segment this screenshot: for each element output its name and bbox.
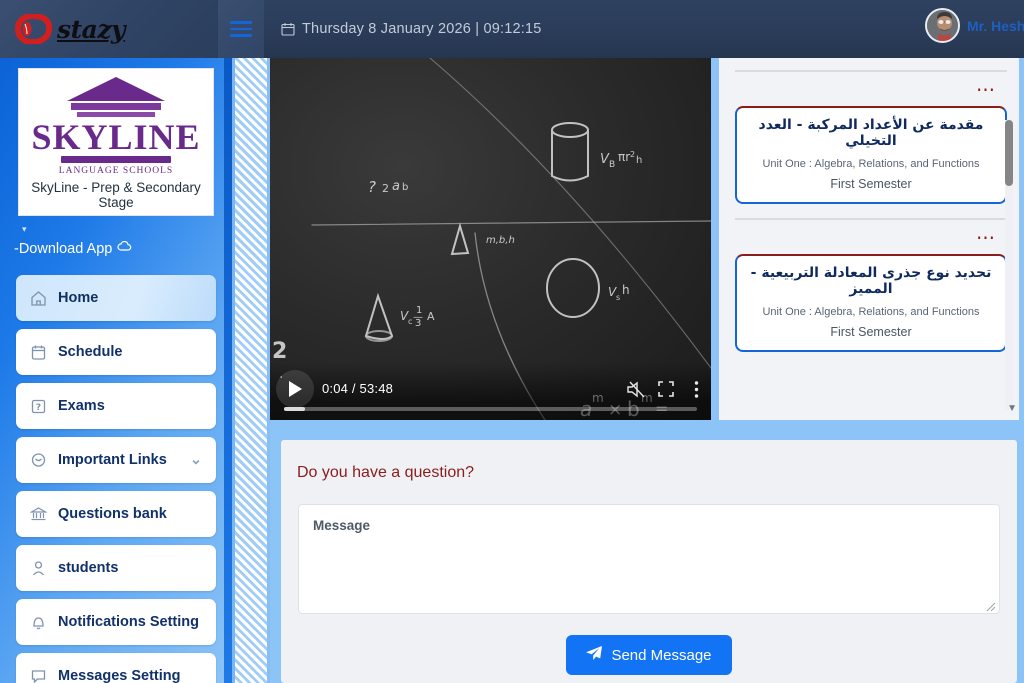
cloud-download-icon <box>117 241 132 257</box>
brand-o-icon <box>14 14 52 44</box>
svg-text:2: 2 <box>382 182 389 195</box>
brand-logo[interactable]: stazy <box>14 14 125 44</box>
chevron-down-icon[interactable]: ▼ <box>1007 403 1017 414</box>
sidebar-item-notifications-setting[interactable]: Notifications Setting <box>16 599 216 645</box>
sidebar-item-exams[interactable]: ? Exams <box>16 383 216 429</box>
exam-icon: ? <box>30 398 47 415</box>
lesson-unit: Unit One : Algebra, Relations, and Funct… <box>745 306 997 318</box>
link-circle-icon <box>30 452 47 469</box>
send-message-label: Send Message <box>611 647 711 664</box>
brand-name: stazy <box>57 15 125 44</box>
message-input[interactable]: Message <box>298 504 1000 614</box>
datetime-text: Thursday 8 January 2026 | 09:12:15 <box>302 21 542 37</box>
sidebar-item-label: Home <box>58 290 202 306</box>
school-stage-caption: SkyLine - Prep & Secondary Stage <box>23 180 209 213</box>
svg-text:h: h <box>622 283 630 297</box>
lesson-list-panel: ⋯ مقدمة عن الأعداد المركبة - العدد التخي… <box>719 58 1019 420</box>
sidebar-item-label: Questions bank <box>58 506 202 522</box>
calendar-icon <box>30 344 47 361</box>
svg-text:?: ? <box>36 403 41 413</box>
svg-text:A: A <box>427 310 435 323</box>
user-icon <box>30 560 47 577</box>
download-app-link[interactable]: -Download App <box>14 241 232 257</box>
message-placeholder: Message <box>313 518 370 533</box>
svg-text:s: s <box>616 293 620 302</box>
sidebar-caret-icon[interactable]: ▾ <box>22 224 232 235</box>
svg-text:B: B <box>609 160 615 170</box>
svg-text:πr: πr <box>618 150 630 164</box>
more-horizontal-icon[interactable]: ⋯ <box>735 72 1007 106</box>
sidebar-menu: Home Schedule ? Exams <box>0 275 232 683</box>
message-icon <box>30 668 47 683</box>
sidebar-item-messages-setting[interactable]: Messages Setting <box>16 653 216 683</box>
app-root: ⋯ مقدمة عن الأعداد المركبة - العدد التخي… <box>0 0 1024 683</box>
send-message-button[interactable]: Send Message <box>566 635 731 675</box>
chevron-down-icon[interactable]: ⌄ <box>190 452 202 468</box>
school-logo-icon <box>61 75 171 121</box>
more-vertical-icon[interactable] <box>681 370 711 408</box>
lesson-card[interactable]: تحديد نوع جذرى المعادلة التربيعية - المم… <box>735 254 1007 352</box>
top-header: stazy Thursday 8 January 2026 | 09:12:15 <box>0 0 1024 58</box>
school-logo-subtitle: LANGUAGE SCHOOLS <box>23 166 209 176</box>
teacher-name: Mr. Hesham Elhaa <box>967 18 1024 34</box>
teacher-badge[interactable]: Mr. Hesham Elhaa <box>925 8 1024 43</box>
header-datetime: Thursday 8 January 2026 | 09:12:15 <box>281 21 542 37</box>
home-icon <box>30 290 47 307</box>
paper-plane-icon <box>586 645 602 665</box>
svg-text:2: 2 <box>272 339 287 364</box>
lesson-list-scrollbar[interactable] <box>1005 120 1013 410</box>
video-player[interactable]: ? 2 a b V B πr 2 h m,b,h V c 1 3 — A V <box>270 58 711 420</box>
send-row: Send Message <box>281 635 1017 675</box>
play-icon[interactable] <box>276 370 314 408</box>
school-logo-word: SKYLINE <box>23 119 209 155</box>
lesson-title: تحديد نوع جذرى المعادلة التربيعية - المم… <box>745 265 997 297</box>
bank-icon <box>30 506 47 523</box>
svg-text:—: — <box>413 312 423 323</box>
avatar <box>925 8 960 43</box>
lesson-title: مقدمة عن الأعداد المركبة - العدد التخيلي <box>745 117 997 149</box>
svg-text:h: h <box>636 155 642 166</box>
video-time-display: 0:04 / 53:48 <box>322 381 393 396</box>
bell-icon <box>30 614 47 631</box>
lesson-card[interactable]: مقدمة عن الأعداد المركبة - العدد التخيلي… <box>735 106 1007 204</box>
sidebar-item-important-links[interactable]: Important Links ⌄ <box>16 437 216 483</box>
question-panel: Do you have a question? Message Send Mes… <box>281 440 1017 683</box>
lesson-unit: Unit One : Algebra, Relations, and Funct… <box>745 158 997 170</box>
header-brand-area: stazy <box>0 0 218 58</box>
sidebar: SKYLINE LANGUAGE SCHOOLS SkyLine - Prep … <box>0 58 232 683</box>
lesson-semester: First Semester <box>745 325 997 339</box>
resize-grip-icon[interactable] <box>986 600 996 610</box>
fullscreen-icon[interactable] <box>651 370 681 408</box>
sidebar-item-label: Notifications Setting <box>58 614 202 630</box>
download-app-label: -Download App <box>14 241 112 257</box>
volume-muted-icon[interactable] <box>621 370 651 408</box>
lesson-semester: First Semester <box>745 177 997 191</box>
logo-base <box>61 156 171 163</box>
sidebar-item-label: Messages Setting <box>58 668 202 683</box>
sidebar-item-label: students <box>58 560 202 576</box>
svg-text:c: c <box>408 317 412 326</box>
background-strip <box>270 420 1024 440</box>
svg-text:b: b <box>402 182 408 193</box>
video-controls: 0:04 / 53:48 <box>270 362 711 420</box>
sidebar-item-questions-bank[interactable]: Questions bank <box>16 491 216 537</box>
more-horizontal-icon[interactable]: ⋯ <box>735 220 1007 254</box>
sidebar-item-schedule[interactable]: Schedule <box>16 329 216 375</box>
sidebar-item-label: Schedule <box>58 344 202 360</box>
calendar-icon <box>281 22 295 36</box>
svg-text:a: a <box>392 179 400 194</box>
svg-text:2: 2 <box>630 150 635 159</box>
sidebar-item-label: Important Links <box>58 452 179 468</box>
decorative-hatch-stripe <box>232 58 270 683</box>
sidebar-item-home[interactable]: Home <box>16 275 216 321</box>
video-progress-bar[interactable] <box>284 407 697 411</box>
sidebar-item-students[interactable]: students <box>16 545 216 591</box>
school-logo-card: SKYLINE LANGUAGE SCHOOLS SkyLine - Prep … <box>18 68 214 216</box>
svg-text:m,b,h: m,b,h <box>486 235 515 246</box>
question-panel-title: Do you have a question? <box>297 464 1017 482</box>
sidebar-item-label: Exams <box>58 398 202 414</box>
hamburger-icon[interactable] <box>218 0 264 58</box>
svg-text:?: ? <box>368 178 376 196</box>
